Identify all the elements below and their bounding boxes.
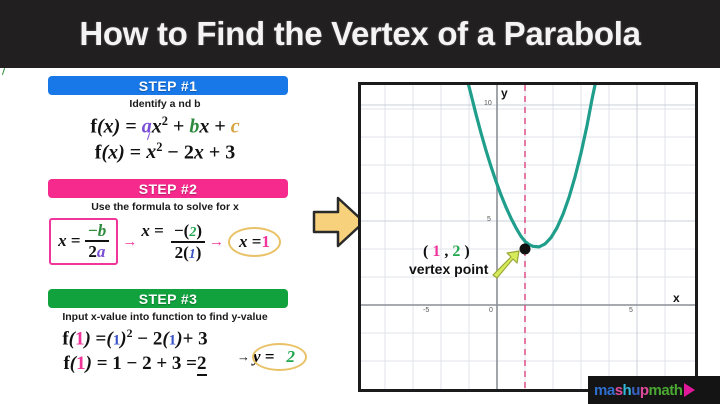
logo-letter-m: m: [594, 382, 607, 399]
logo-letter-u: u: [631, 382, 640, 399]
step-1-subtitle: Identify a nd b: [0, 98, 330, 110]
coefficient-b: b: [189, 116, 199, 138]
step-1-general-equation: f(x) = ax2 + bx + c: [0, 114, 330, 139]
step-2-work: x = −b 2a → x = −(2) 2(1) → x =1: [0, 218, 330, 265]
step-2-result-value: 1: [261, 232, 270, 251]
y-axis-label: y: [501, 86, 508, 100]
step-1: STEP #1 Identify a nd b f(x) = ax2 + bx …: [0, 76, 330, 164]
coefficient-c: c: [231, 116, 240, 138]
logo-letter-p: p: [640, 382, 649, 399]
step-2-arrow-2: →: [208, 233, 225, 250]
step-2-banner: STEP #2: [48, 179, 288, 198]
step-3-banner: STEP #3: [48, 289, 288, 308]
logo-letter-h: h: [623, 382, 632, 399]
x-tick-5: 5: [629, 307, 633, 314]
y-tick-5: 5: [487, 216, 491, 223]
page-title: How to Find the Vertex of a Parabola: [79, 15, 640, 53]
vertex-dot: [520, 244, 531, 255]
step-3-equation-2: f(1) = 1 − 2 + 3 =2: [0, 353, 270, 375]
coefficient-a: a: [142, 116, 152, 138]
step-3-arrow: →: [236, 349, 251, 365]
y-value: 2: [286, 347, 295, 367]
substituted-a: 1: [189, 247, 196, 262]
logo-text: mashupmath: [594, 383, 682, 398]
steps-column: STEP #1 Identify a nd b f(x) = ax2 + bx …: [0, 68, 330, 404]
parabola-graph: x y -5 0 5 5 10 ( 1 , 2 ) vertex point: [358, 82, 698, 392]
step-1-banner: STEP #1: [48, 76, 288, 95]
step-3-subtitle: Input x-value into function to find y-va…: [0, 311, 330, 323]
x-axis-label: x: [673, 291, 680, 305]
vertex-coordinate-label: ( 1 , 2 ): [423, 243, 470, 261]
x-tick--5: -5: [423, 307, 429, 314]
step-2-subtitle: Use the formula to solve for x: [0, 201, 330, 213]
vertex-formula-box: x = −b 2a: [49, 218, 118, 265]
logo-letter-a: a: [607, 382, 615, 399]
vertex-point-label: vertex point: [409, 261, 488, 277]
step-2-result-oval: x =1: [228, 227, 281, 257]
step-2: STEP #2 Use the formula to solve for x x…: [0, 179, 330, 265]
graph-canvas: [361, 85, 695, 389]
step-3: STEP #3 Input x-value into function to f…: [0, 289, 330, 387]
step-2-substitution: x = −(2) 2(1): [141, 221, 205, 262]
step-2-arrow-1: →: [121, 233, 138, 250]
step-1-specific-equation: f(x) = x2 − 2x + 3: [0, 140, 330, 165]
x-tick-0: 0: [489, 307, 493, 314]
logo-word-math: math: [649, 382, 683, 399]
play-triangle-icon: [684, 383, 695, 397]
formula-numerator: −b: [88, 221, 107, 240]
y-tick-10: 10: [484, 100, 492, 107]
page-header: How to Find the Vertex of a Parabola: [0, 0, 720, 68]
step-3-y-result: → y = 2: [236, 343, 307, 371]
mashupmath-logo[interactable]: mashupmath: [588, 376, 720, 404]
step-3-equation-1: f(1) =(1)2 − 2(1)+ 3: [0, 327, 270, 350]
logo-letter-s: s: [615, 382, 623, 399]
